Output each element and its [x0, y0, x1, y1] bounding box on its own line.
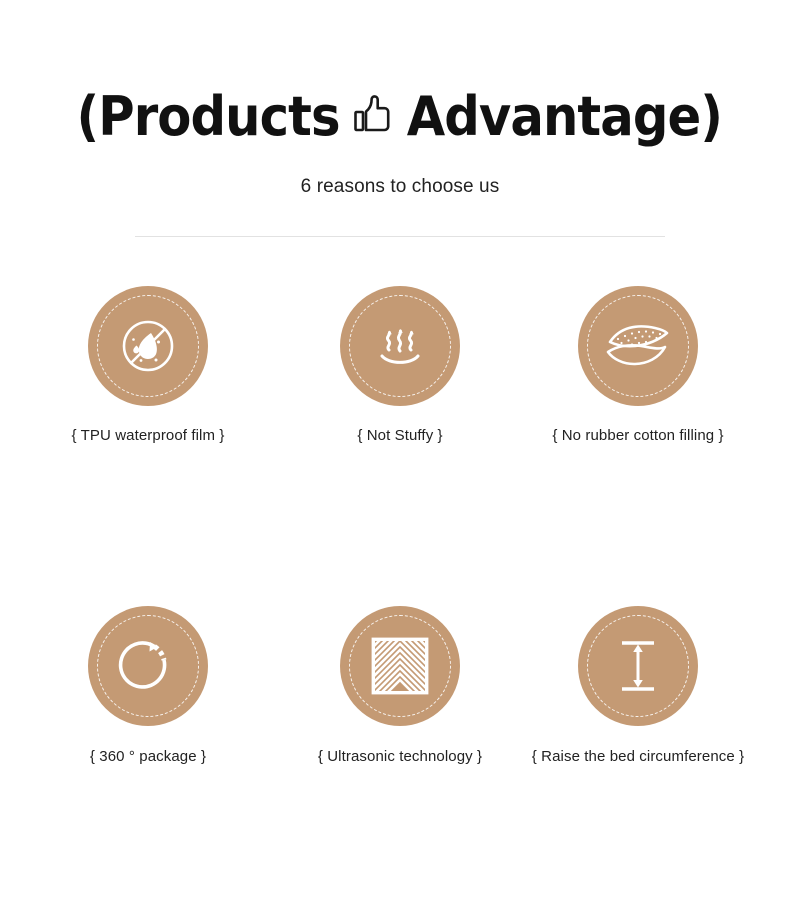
- advantage-label: { No rubber cotton filling }: [515, 427, 761, 444]
- advantage-item[interactable]: { Raise the bed circumference }: [515, 606, 761, 765]
- advantage-item[interactable]: { Not Stuffy }: [277, 286, 523, 444]
- breathable-steam-icon: [368, 314, 432, 378]
- advantage-label: { Not Stuffy }: [277, 427, 523, 444]
- page-title-left: (Products: [76, 88, 339, 146]
- cotton-layers-icon: [603, 317, 673, 375]
- advantage-badge: [340, 286, 460, 406]
- advantage-item[interactable]: { No rubber cotton filling }: [515, 286, 761, 444]
- height-measure-icon: [609, 635, 667, 697]
- advantage-badge: [88, 286, 208, 406]
- advantage-badge: [340, 606, 460, 726]
- page-subtitle: 6 reasons to choose us: [0, 176, 800, 198]
- advantages-page: (Products Advantage) 6 reasons to choose…: [0, 0, 800, 911]
- page-title: (Products Advantage): [0, 88, 800, 146]
- herringbone-quilt-icon: [369, 635, 431, 697]
- advantage-badge: [88, 606, 208, 726]
- header-divider: [135, 236, 665, 237]
- advantages-row-2: { 360 ° package }: [0, 606, 800, 806]
- advantage-item[interactable]: { TPU waterproof film }: [25, 286, 271, 444]
- advantage-item[interactable]: { 360 ° package }: [25, 606, 271, 765]
- advantage-badge: [578, 286, 698, 406]
- advantage-item[interactable]: { Ultrasonic technology }: [277, 606, 523, 765]
- advantage-label: { 360 ° package }: [25, 748, 271, 765]
- advantage-label: { Ultrasonic technology }: [277, 748, 523, 765]
- no-water-drop-icon: [115, 313, 181, 379]
- page-title-right: Advantage): [406, 88, 721, 146]
- advantage-label: { Raise the bed circumference }: [515, 748, 761, 765]
- advantage-badge: [578, 606, 698, 726]
- circular-arrow-360-icon: [116, 634, 180, 698]
- advantages-row-1: { TPU waterproof film }: [0, 286, 800, 486]
- advantage-label: { TPU waterproof film }: [25, 427, 271, 444]
- thumbs-up-icon: [352, 93, 392, 137]
